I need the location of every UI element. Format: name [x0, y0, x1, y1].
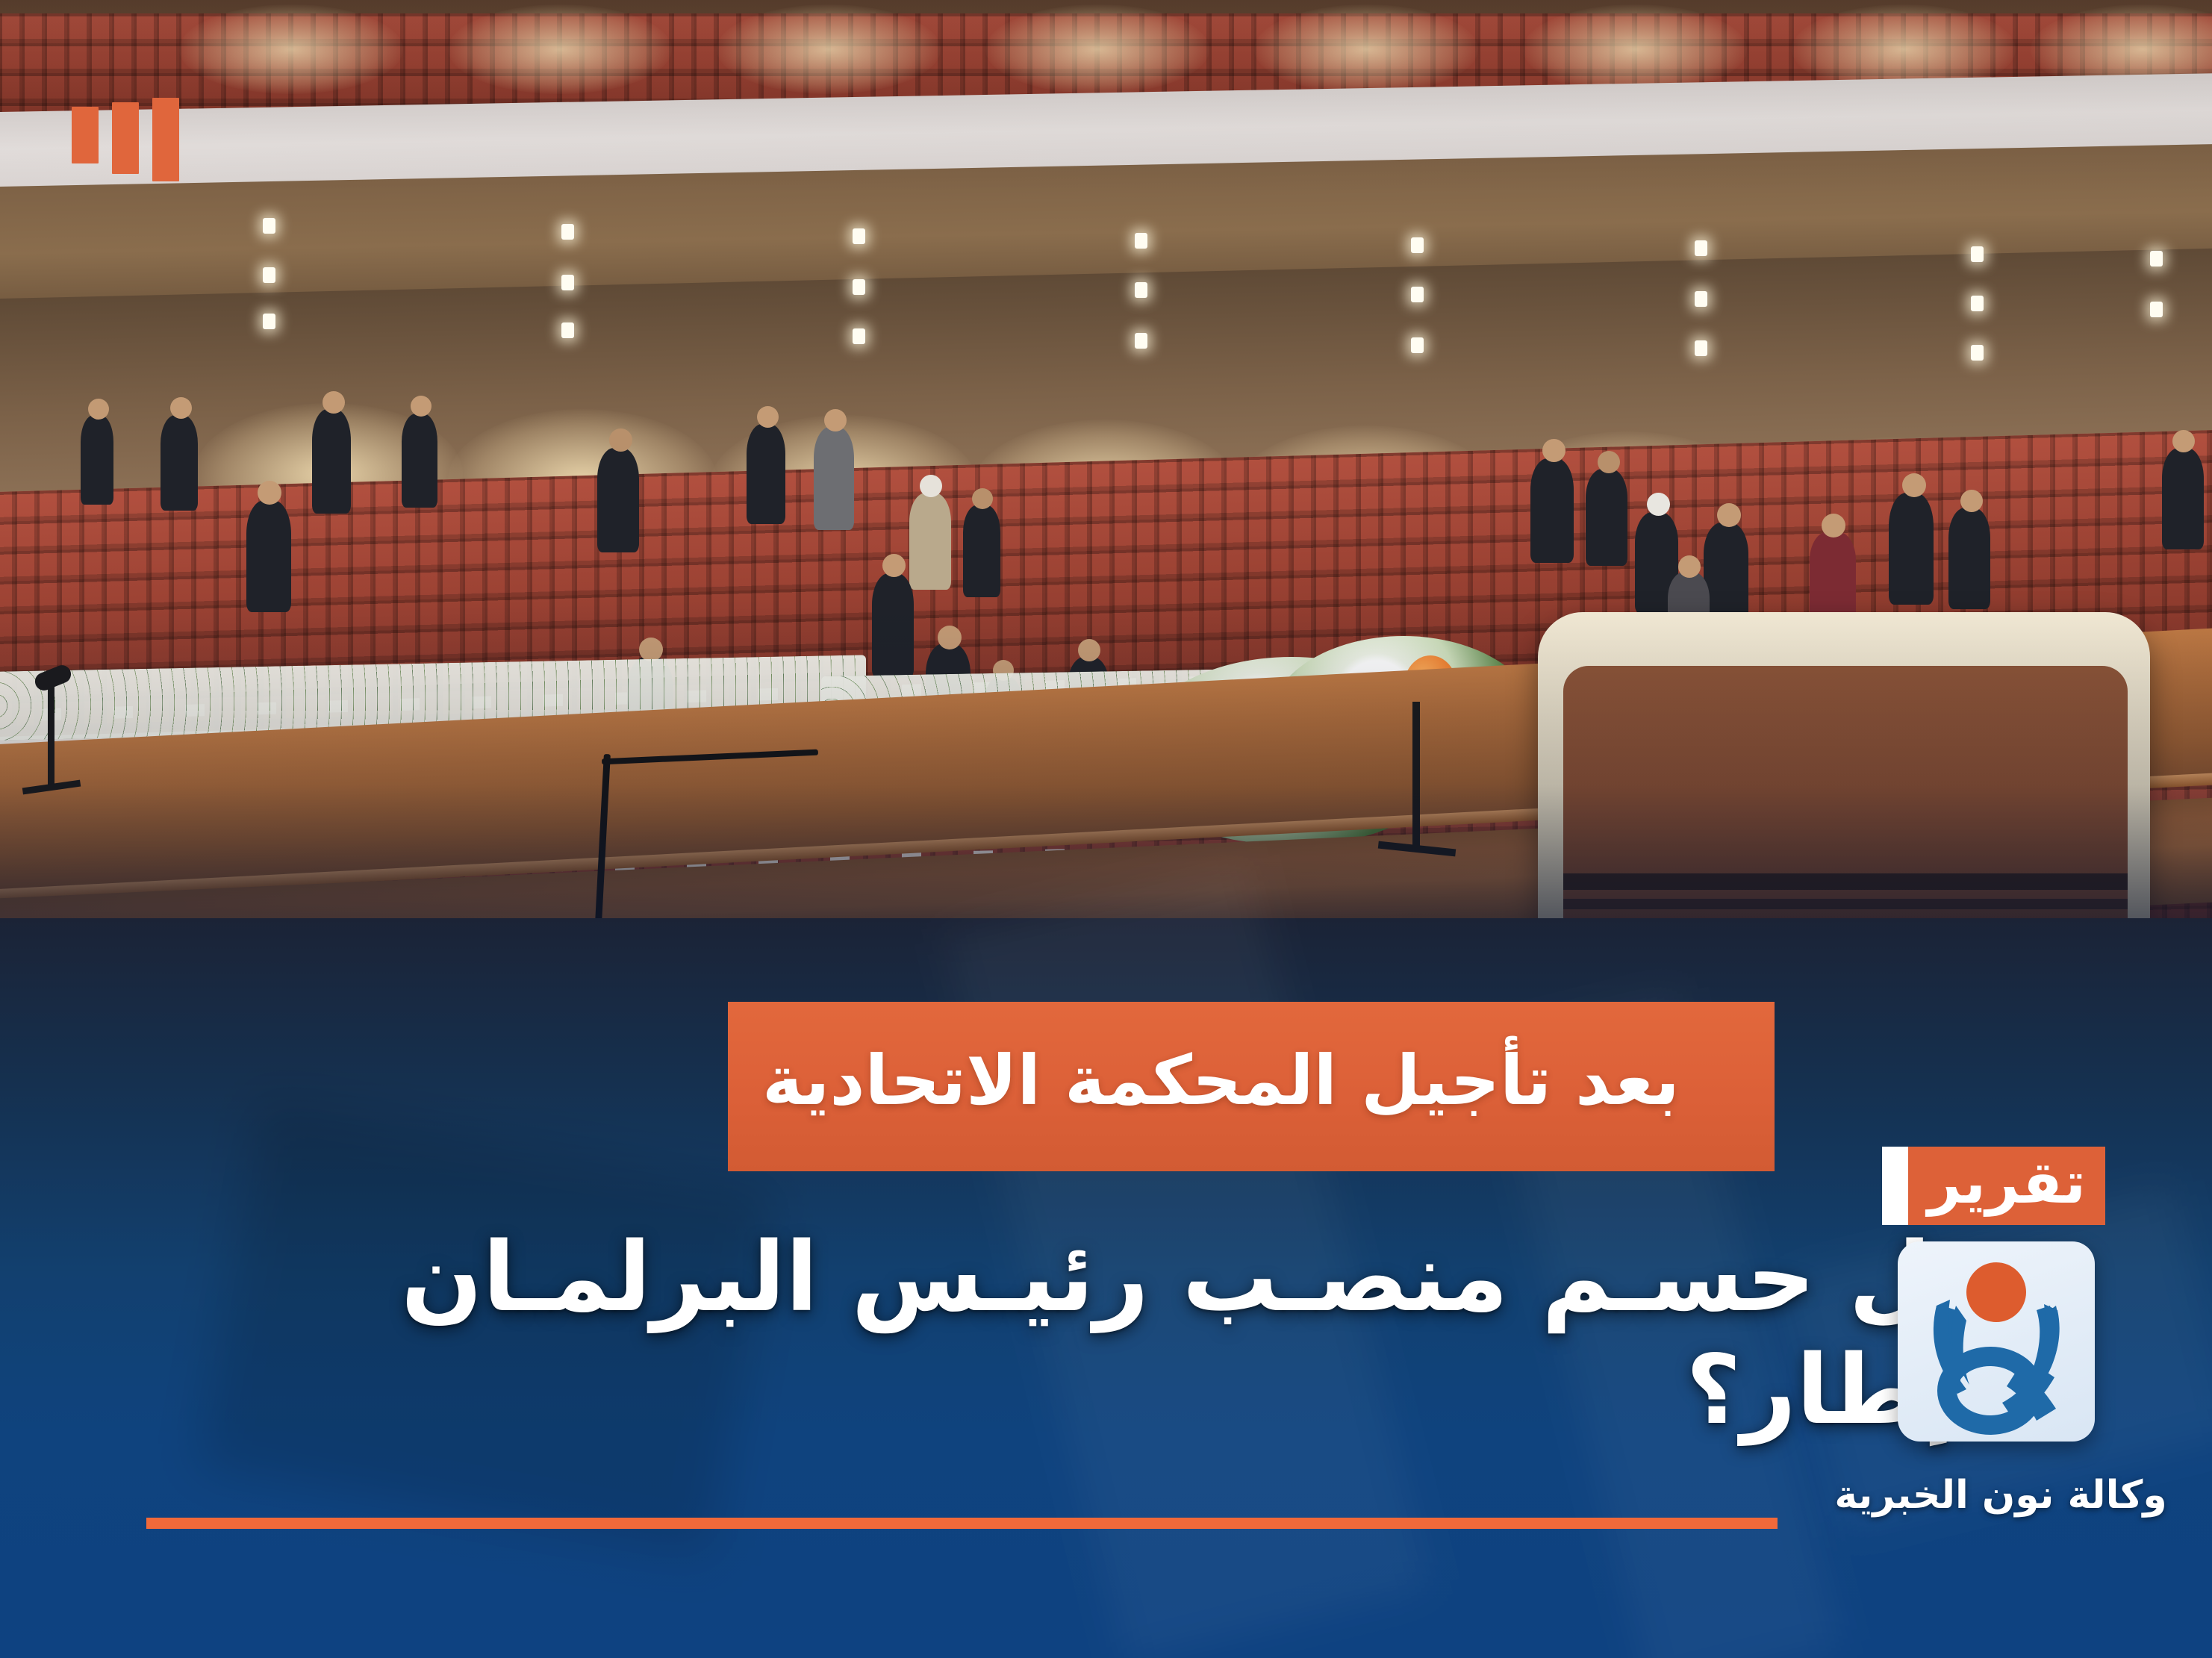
headline-line-2: للإطار؟: [293, 1334, 2033, 1447]
headline-underline-rule: [146, 1518, 1778, 1529]
brand-bar-2: [112, 102, 139, 174]
report-badge-white-bar: [1882, 1147, 1908, 1225]
three-bars-logo-mark: [45, 98, 179, 186]
agency-name-label: وكالة نون الخبرية: [1807, 1474, 2195, 1517]
headline: هـل حسـم منصـب رئيـس البرلمـان للإطار؟: [293, 1221, 2033, 1447]
kicker-banner: بعد تأجيل المحكمة الاتحادية: [728, 1002, 1775, 1171]
brand-bar-3: [72, 107, 99, 163]
report-badge-chip: تقرير: [1908, 1147, 2105, 1225]
news-graphic-card: بعد تأجيل المحكمة الاتحادية هـل حسـم منص…: [0, 0, 2212, 1658]
report-badge: تقرير: [1882, 1147, 2105, 1225]
kicker-text: بعد تأجيل المحكمة الاتحادية: [762, 1045, 1680, 1118]
headline-line-1: هـل حسـم منصـب رئيـس البرلمـان: [293, 1221, 2033, 1334]
noon-agency-logo-icon: [1898, 1241, 2095, 1442]
brand-bar-1: [152, 98, 179, 181]
report-badge-label: تقرير: [1928, 1154, 2086, 1218]
